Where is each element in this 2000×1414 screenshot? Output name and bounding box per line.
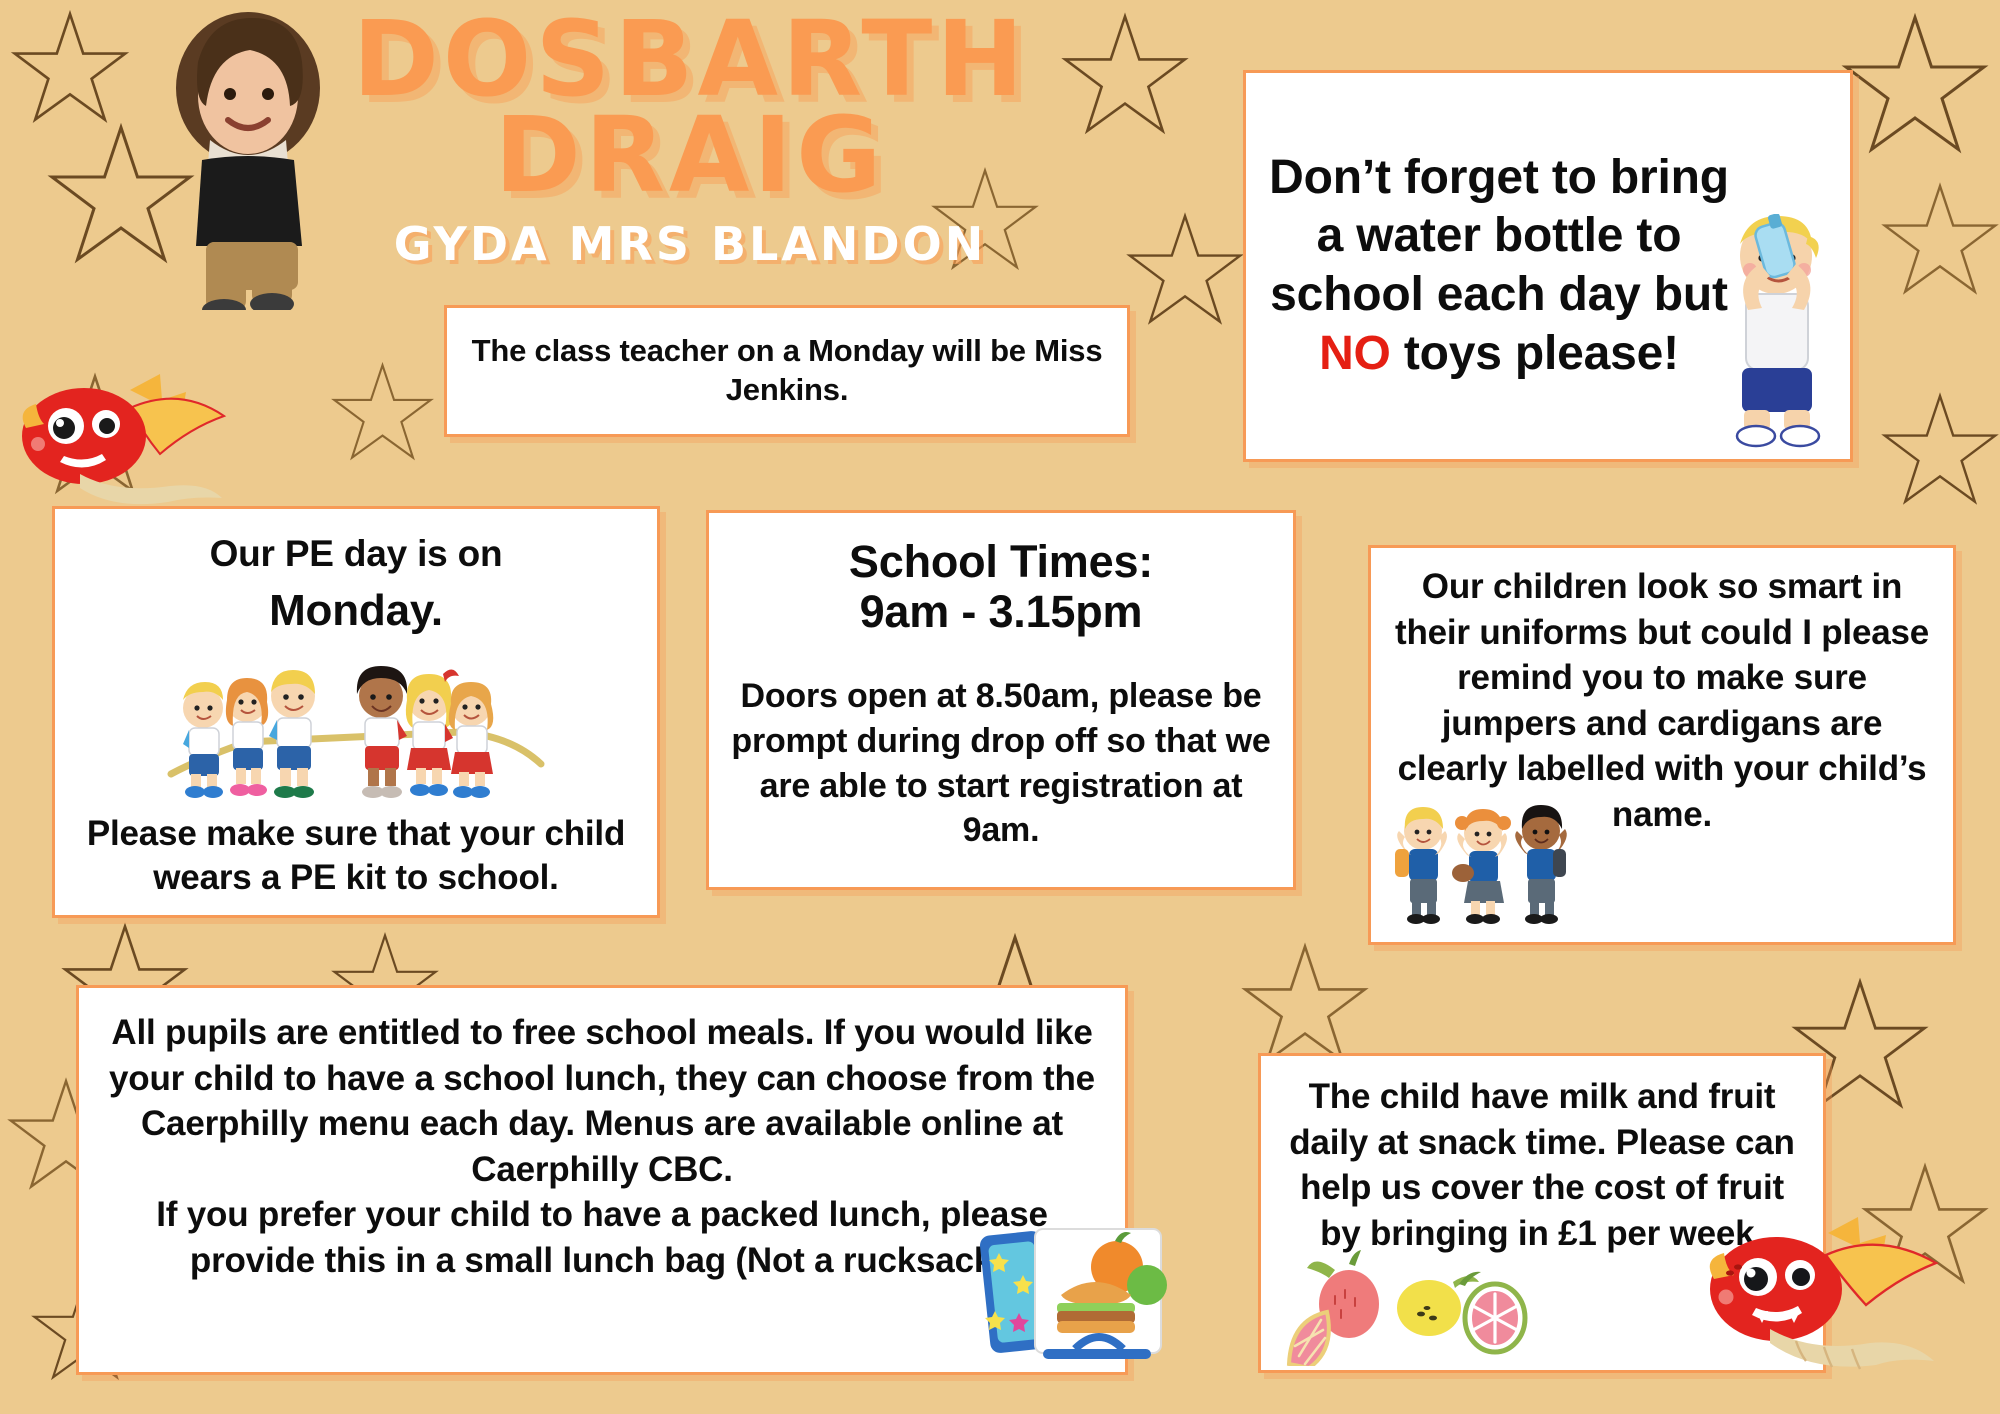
school-meals-paragraph-1: All pupils are entitled to free school m…	[101, 1010, 1103, 1192]
children-tug-of-war-icon	[161, 652, 551, 802]
page-title-line2: DRAIG	[330, 108, 1050, 204]
school-meals-paragraph-2: If you prefer your child to have a packe…	[101, 1192, 1103, 1283]
star-icon	[330, 360, 435, 465]
water-bottle-text: Don’t forget to bring a water bottle to …	[1264, 149, 1734, 383]
children-in-uniform-icon	[1385, 797, 1585, 932]
uniform-card: Our children look so smart in their unif…	[1368, 545, 1956, 945]
uniform-child-1	[1395, 807, 1447, 924]
child-3	[269, 670, 315, 798]
teacher-photo	[140, 10, 360, 310]
star-icon	[1880, 390, 2000, 510]
boy-drinking-water-icon	[1712, 214, 1842, 449]
water-bottle-card: Don’t forget to bring a water bottle to …	[1243, 70, 1853, 462]
fruit-icon	[1283, 1246, 1543, 1366]
poster-canvas: DOSBARTH DRAIG GYDA MRS BLANDON	[0, 0, 2000, 1414]
school-times-heading-line2: 9am - 3.15pm	[860, 586, 1143, 637]
dragon-mascot-icon	[1700, 1215, 1950, 1375]
star-icon	[1240, 940, 1370, 1070]
water-text-emphasis: NO	[1319, 327, 1391, 380]
page-title: DOSBARTH DRAIG	[330, 12, 1050, 203]
pe-day-line2: Monday.	[269, 583, 443, 638]
school-times-body: Doors open at 8.50am, please be prompt d…	[731, 674, 1271, 854]
school-times-card: School Times: 9am - 3.15pm Doors open at…	[706, 510, 1296, 890]
water-text-after: toys please!	[1391, 327, 1679, 380]
child-6	[449, 682, 494, 798]
pe-day-line1: Our PE day is on	[210, 531, 503, 577]
water-text-before: Don’t forget to bring a water bottle to …	[1269, 151, 1729, 321]
school-times-heading: School Times: 9am - 3.15pm	[849, 537, 1153, 638]
uniform-child-2	[1452, 809, 1511, 924]
monday-teacher-card: The class teacher on a Monday will be Mi…	[444, 305, 1130, 437]
pe-day-card: Our PE day is on Monday.	[52, 506, 660, 918]
monday-teacher-text: The class teacher on a Monday will be Mi…	[469, 332, 1105, 410]
lunchbox-icon	[979, 1189, 1169, 1364]
child-2	[226, 678, 268, 796]
uniform-child-3	[1515, 805, 1567, 924]
dragon-mascot-icon	[10, 370, 230, 505]
child-4	[357, 666, 407, 798]
school-times-heading-line1: School Times:	[849, 536, 1153, 587]
pe-day-footer: Please make sure that your child wears a…	[77, 812, 635, 900]
star-icon	[1880, 180, 2000, 300]
title-block: DOSBARTH DRAIG GYDA MRS BLANDON	[330, 12, 1050, 271]
child-1	[183, 682, 223, 798]
star-icon	[1840, 10, 1990, 160]
page-subtitle: GYDA MRS BLANDON	[330, 217, 1050, 271]
school-meals-card: All pupils are entitled to free school m…	[76, 985, 1128, 1375]
